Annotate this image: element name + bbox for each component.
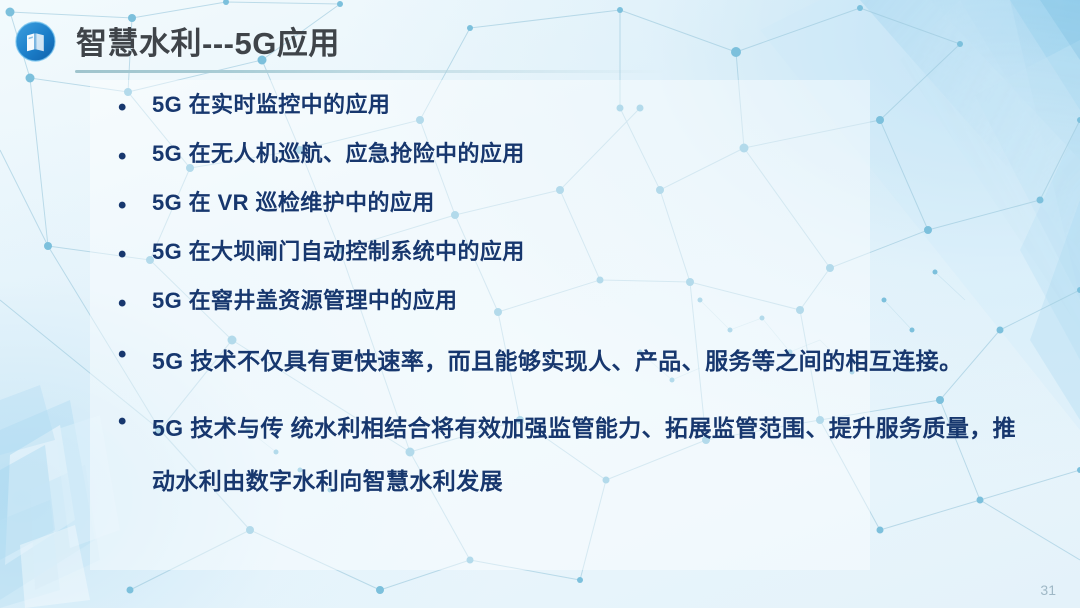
- list-item-label: 5G 在大坝闸门自动控制系统中的应用: [152, 237, 1018, 267]
- bullet-icon: [118, 237, 152, 267]
- list-item: 5G 在 VR 巡检维护中的应用: [118, 188, 1018, 218]
- slide-header: 智慧水利---5G应用: [0, 0, 1080, 84]
- bullet-icon: [118, 335, 152, 367]
- bullet-list: 5G 在实时监控中的应用 5G 在无人机巡航、应急抢险中的应用 5G 在 VR …: [118, 90, 1018, 522]
- bottom-left-facets: [0, 385, 120, 608]
- list-item: 5G 在实时监控中的应用: [118, 90, 1018, 120]
- bullet-icon: [118, 286, 152, 316]
- bullet-icon: [118, 90, 152, 120]
- bullet-icon: [118, 139, 152, 169]
- slide-root: 智慧水利---5G应用 5G 在实时监控中的应用 5G 在无人机巡航、应急抢险中…: [0, 0, 1080, 608]
- list-item-label: 5G 技术不仅具有更快速率，而且能够实现人、产品、服务等之间的相互连接。: [152, 335, 1018, 388]
- list-item-label: 5G 在窨井盖资源管理中的应用: [152, 286, 1018, 316]
- list-item: 5G 在无人机巡航、应急抢险中的应用: [118, 139, 1018, 169]
- list-item: 5G 技术与传 统水利相结合将有效加强监管能力、拓展监管范围、提升服务质量，推动…: [118, 402, 1018, 508]
- title-divider: [75, 70, 665, 73]
- list-item-label: 5G 在无人机巡航、应急抢险中的应用: [152, 139, 1018, 169]
- list-item-label: 5G 在实时监控中的应用: [152, 90, 1018, 120]
- bullet-icon: [118, 188, 152, 218]
- list-item: 5G 在大坝闸门自动控制系统中的应用: [118, 237, 1018, 267]
- list-item-label: 5G 技术与传 统水利相结合将有效加强监管能力、拓展监管范围、提升服务质量，推动…: [152, 402, 1018, 508]
- page-number: 31: [1040, 582, 1056, 598]
- list-item: 5G 在窨井盖资源管理中的应用: [118, 286, 1018, 316]
- bullet-icon: [118, 402, 152, 434]
- list-item: 5G 技术不仅具有更快速率，而且能够实现人、产品、服务等之间的相互连接。: [118, 335, 1018, 388]
- book-badge-icon: [15, 21, 56, 62]
- list-item-label: 5G 在 VR 巡检维护中的应用: [152, 188, 1018, 218]
- page-title: 智慧水利---5G应用: [76, 18, 340, 63]
